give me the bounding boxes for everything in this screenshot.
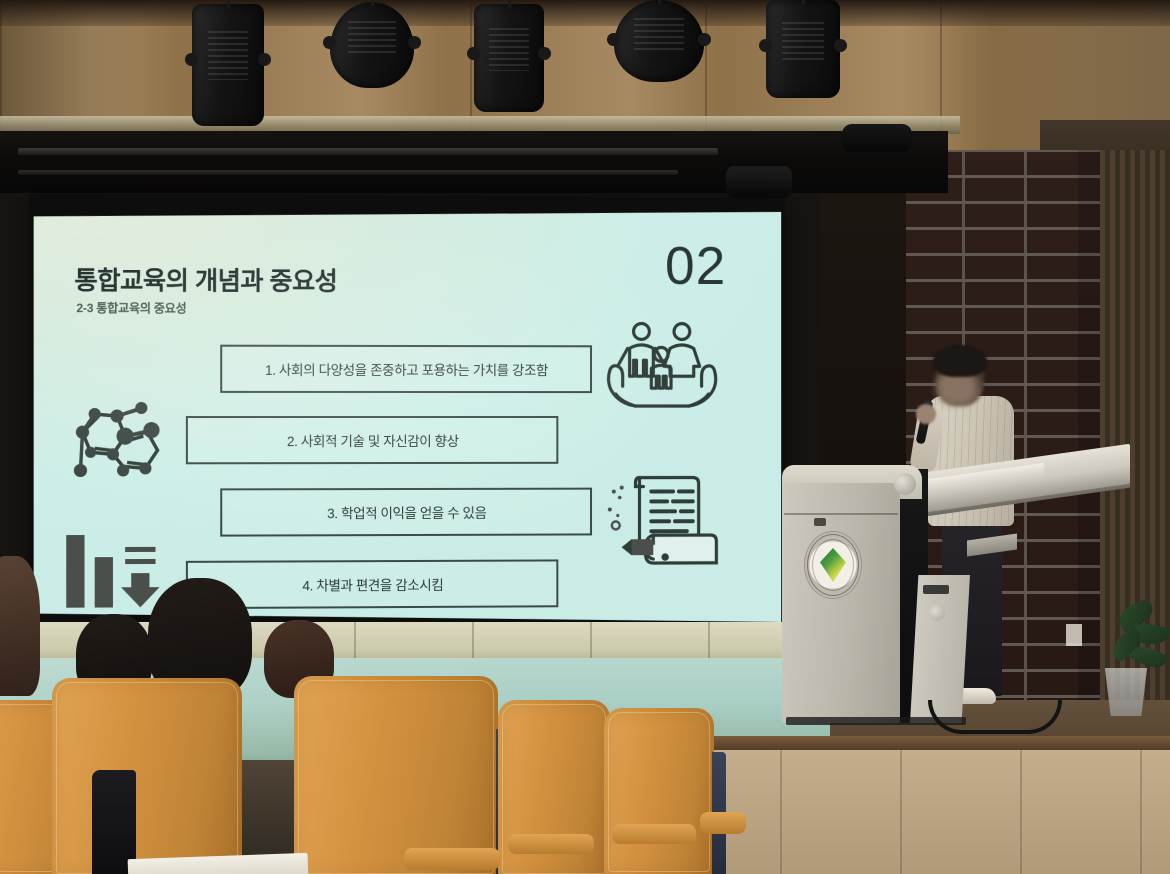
power-cable (928, 700, 1062, 734)
light-knob (698, 33, 711, 46)
potted-plant (1088, 600, 1170, 730)
podium-control-panel (923, 585, 949, 594)
hanging-projector (726, 166, 792, 198)
stage-spotlight-icon (474, 4, 544, 112)
lighting-truss-bar (18, 148, 718, 155)
ceiling-shadow (0, 0, 1170, 26)
seat-armrest (404, 848, 500, 870)
bar-chart-down-arrow-icon (58, 527, 170, 612)
light-body (766, 0, 840, 98)
light-knob-left (607, 33, 620, 46)
light-yoke (371, 0, 374, 6)
seat-armrest (508, 834, 594, 854)
light-vent (634, 18, 684, 51)
auditorium-seat (294, 676, 498, 874)
stage-spotlight-icon (330, 2, 414, 88)
wall-outlet (1066, 624, 1082, 646)
slide-point-1: 1. 사회의 다양성을 존중하고 포용하는 가치를 강조함 (220, 345, 592, 393)
light-vent (348, 21, 395, 55)
hanging-speaker (842, 124, 912, 152)
podium-cabinet (782, 483, 900, 723)
seat-back (52, 678, 242, 874)
stage-spotlight-icon (614, 0, 704, 82)
podium-seam (784, 513, 898, 515)
auditorium-seat (52, 678, 242, 874)
presenter-hand (916, 404, 936, 424)
slide-point-2: 2. 사회적 기술 및 자신감이 향상 (186, 416, 558, 464)
light-yoke (802, 0, 805, 4)
light-knob-left (185, 53, 198, 66)
slide-title: 통합교육의 개념과 중요성 (74, 261, 337, 298)
slide-subtitle: 2-3 통합교육의 중요성 (76, 299, 186, 316)
podium-latch (814, 518, 826, 526)
light-body (330, 2, 414, 88)
seat-armrest (612, 824, 696, 844)
light-vent (208, 31, 248, 80)
presenter-hair (933, 345, 987, 377)
light-body (474, 4, 544, 112)
light-vent (782, 22, 823, 61)
podium (782, 455, 1032, 723)
projection-screen: 통합교육의 개념과 중요성 2-3 통합교육의 중요성 02 (34, 208, 782, 626)
lighting-truss-bar-secondary (18, 170, 678, 175)
light-yoke (658, 0, 661, 4)
audience-head (0, 556, 40, 696)
projection-screen-frame: 통합교육의 개념과 중요성 2-3 통합교육의 중요성 02 (30, 194, 786, 630)
podium-round-knob (894, 473, 916, 495)
auditorium-presentation-photo: 통합교육의 개념과 중요성 2-3 통합교육의 중요성 02 (0, 0, 1170, 874)
podium-dial (929, 605, 945, 621)
seat-back (604, 708, 714, 874)
light-yoke (508, 0, 511, 8)
slide-section-number: 02 (665, 239, 726, 293)
ceiling-soffit (0, 131, 948, 193)
family-in-hands-icon (604, 318, 720, 416)
molecule-icon (64, 388, 161, 493)
light-yoke (227, 0, 230, 8)
slide-point-3: 3. 학업적 이익을 얻을 수 있음 (220, 488, 592, 537)
auditorium-seat (604, 708, 714, 874)
light-body (614, 0, 704, 82)
stage-spotlight-icon (192, 4, 264, 126)
light-vent (489, 28, 528, 71)
seat-armrest (700, 812, 746, 834)
document-pencil-icon (604, 470, 726, 576)
university-emblem (804, 531, 862, 599)
stage-spotlight-icon (766, 0, 840, 98)
light-body (192, 4, 264, 126)
podium-shelf (967, 533, 1017, 556)
plant-pot (1102, 668, 1150, 716)
seat-back (294, 676, 498, 874)
light-knob (258, 53, 271, 66)
